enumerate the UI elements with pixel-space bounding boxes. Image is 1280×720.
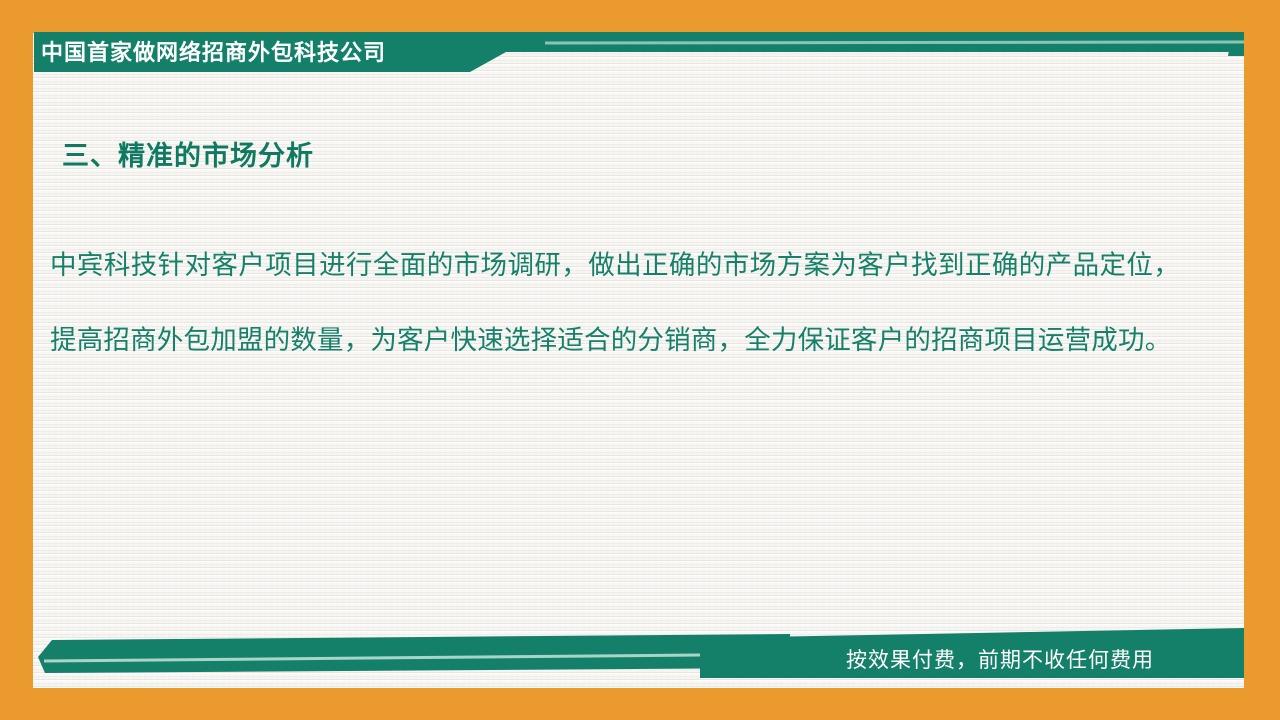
footer-green-wedge bbox=[700, 634, 790, 678]
header-title: 中国首家做网络招商外包科技公司 bbox=[41, 36, 481, 69]
footer-green-left-bar bbox=[38, 634, 790, 673]
presentation-slide: 中国首家做网络招商外包科技公司 三、精准的市场分析 中宾科技针对客户项目进行全面… bbox=[0, 0, 1280, 720]
body-paragraph: 中宾科技针对客户项目进行全面的市场调研，做出正确的市场方案为客户找到正确的产品定… bbox=[50, 228, 1180, 378]
section-heading: 三、精准的市场分析 bbox=[62, 134, 314, 173]
footer-tagline: 按效果付费，前期不收任何费用 bbox=[846, 645, 1226, 677]
